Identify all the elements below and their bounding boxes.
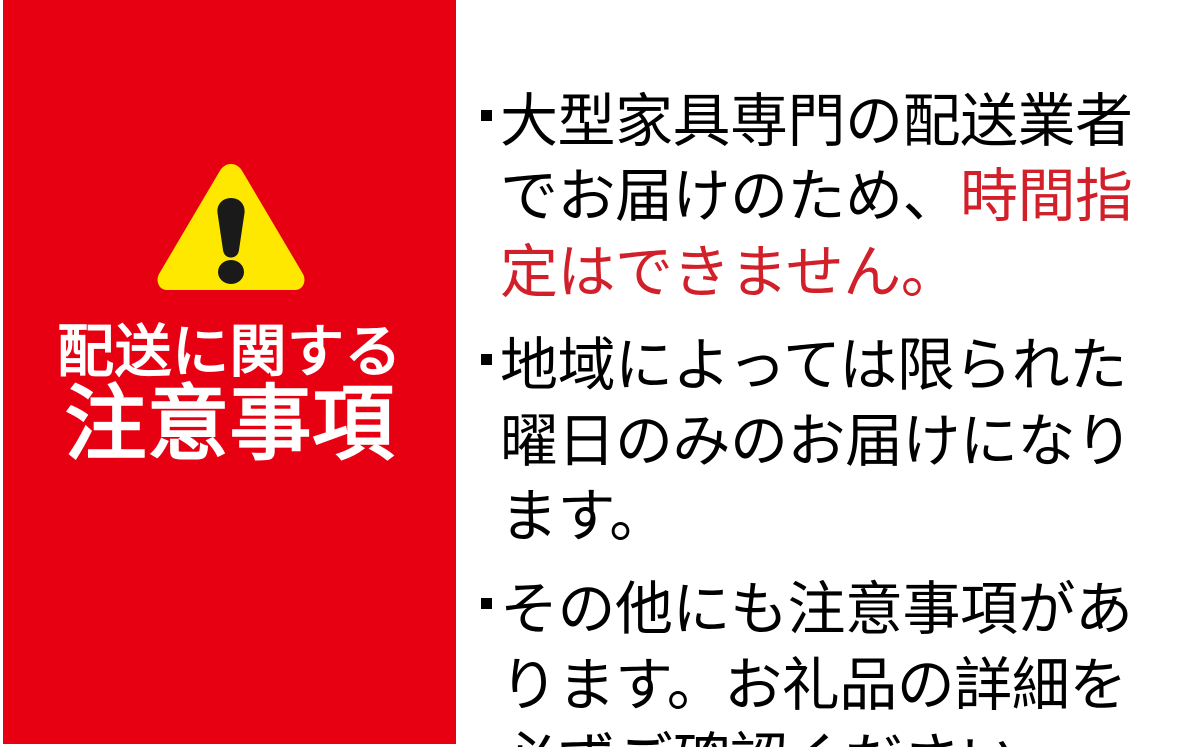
- bullet-square-icon: [481, 110, 492, 121]
- notice-segment-black: その他にも注意事項があります。お礼品の詳細を必ずご確認ください。: [500, 577, 1133, 747]
- list-item: 地域によっては限られた曜日のみのお届けになります。: [481, 328, 1181, 554]
- list-item: その他にも注意事項があります。お礼品の詳細を必ずご確認ください。: [481, 572, 1181, 747]
- notice-segment-black: 地域によっては限られた曜日のみのお届けになります。: [500, 333, 1133, 549]
- notice-red-panel: 配送に関する 注意事項: [3, 0, 456, 744]
- panel-title-line-2: 注意事項: [3, 381, 456, 470]
- notice-text: その他にも注意事項があります。お礼品の詳細を必ずご確認ください。: [500, 572, 1181, 747]
- delivery-notice-banner: 配送に関する 注意事項 大型家具専門の配送業者でお届けのため、時間指定はできませ…: [0, 0, 1201, 747]
- bullet-square-icon: [481, 598, 492, 609]
- panel-title-line-1: 配送に関する: [3, 322, 456, 383]
- notice-text: 大型家具専門の配送業者でお届けのため、時間指定はできません。: [500, 84, 1181, 310]
- list-item: 大型家具専門の配送業者でお届けのため、時間指定はできません。: [481, 84, 1181, 310]
- notice-text: 地域によっては限られた曜日のみのお届けになります。: [500, 328, 1181, 554]
- bullet-square-icon: [481, 354, 492, 365]
- panel-heading: 配送に関する 注意事項: [3, 322, 456, 470]
- warning-triangle-icon: [153, 160, 309, 296]
- notice-list: 大型家具専門の配送業者でお届けのため、時間指定はできません。 地域によっては限ら…: [481, 84, 1181, 747]
